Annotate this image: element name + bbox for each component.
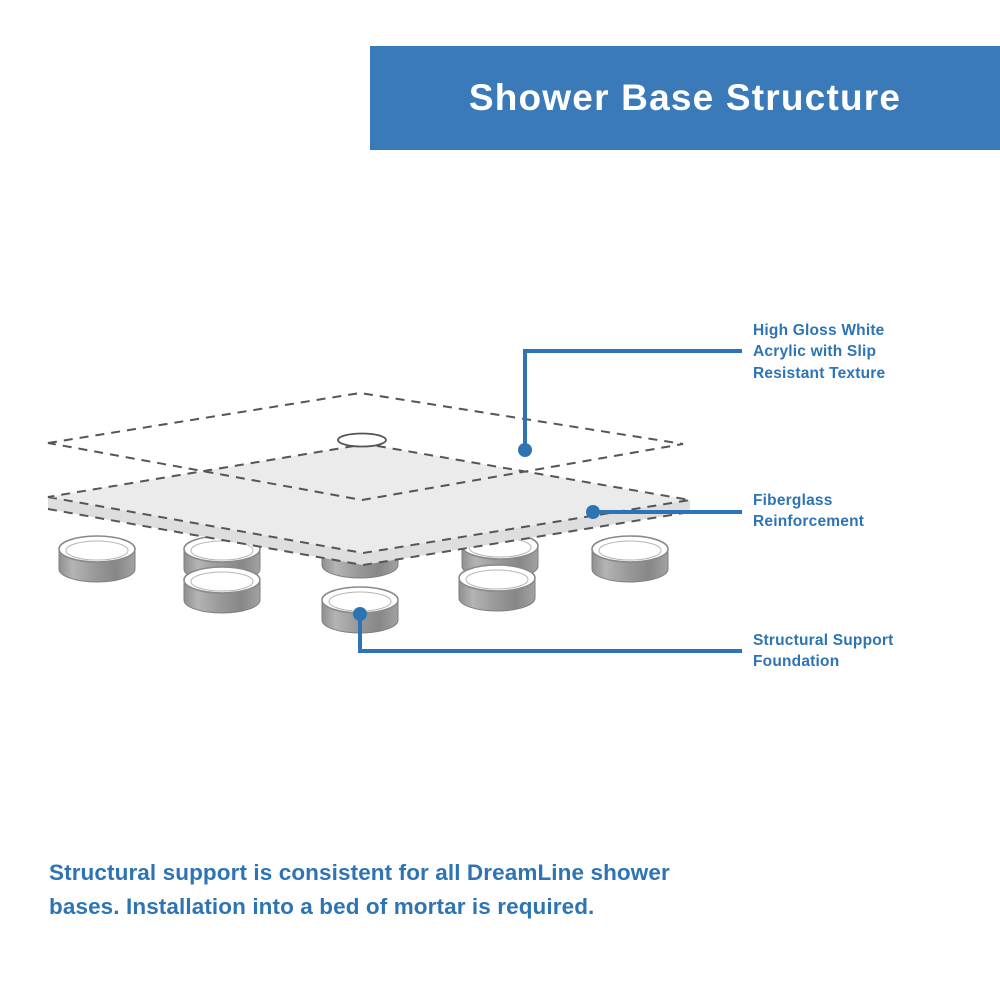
callout-label-support: Structural Support Foundation bbox=[753, 630, 988, 673]
callout-leaders bbox=[353, 351, 742, 651]
callout-leader-acrylic bbox=[518, 351, 742, 457]
callout-dot-acrylic bbox=[518, 443, 532, 457]
acrylic-top-surface bbox=[48, 393, 683, 500]
slab-top-face bbox=[48, 444, 690, 553]
title-banner: Shower Base Structure bbox=[370, 46, 1000, 150]
support-ring bbox=[462, 533, 538, 579]
support-ring bbox=[184, 536, 260, 582]
callout-dot-fiberglass bbox=[586, 505, 600, 519]
support-ring bbox=[592, 536, 668, 582]
callout-dot-support bbox=[353, 607, 367, 621]
support-ring bbox=[322, 587, 398, 633]
drain-opening bbox=[338, 434, 386, 447]
fiberglass-reinforcement-slab bbox=[48, 444, 690, 565]
callout-label-acrylic: High Gloss White Acrylic with Slip Resis… bbox=[753, 320, 988, 384]
callout-leader-fiberglass bbox=[586, 505, 742, 519]
support-ring bbox=[322, 532, 398, 578]
structural-support-rings bbox=[59, 532, 668, 633]
callout-leader-support bbox=[353, 607, 742, 651]
callout-label-fiberglass: Fiberglass Reinforcement bbox=[753, 490, 988, 533]
support-ring bbox=[184, 567, 260, 613]
footer-caption: Structural support is consistent for all… bbox=[49, 856, 709, 924]
page-title: Shower Base Structure bbox=[469, 77, 901, 119]
support-ring bbox=[59, 536, 135, 582]
support-ring bbox=[459, 565, 535, 611]
acrylic-outline bbox=[48, 393, 683, 500]
